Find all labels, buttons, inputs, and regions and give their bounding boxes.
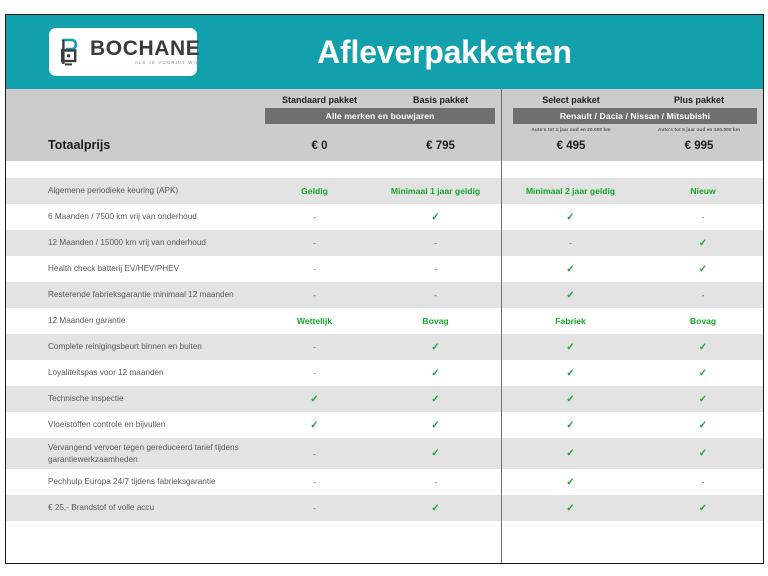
table-body: Algemene periodieke keuring (APK)GeldigM… <box>6 178 763 521</box>
cell-plus: ✓ <box>640 264 766 275</box>
cell-standaard: ✓ <box>259 394 370 405</box>
group-divider <box>501 89 502 563</box>
package-group-renault: Select pakket Plus pakket Renault / Daci… <box>501 89 763 161</box>
table-footer-space <box>6 521 763 563</box>
header-banner: BOCHANE ALS JE VOORUIT WIL Afleverpakket… <box>6 15 763 89</box>
cell-basis: ✓ <box>370 394 501 405</box>
header-body-spacer <box>6 161 763 178</box>
row-label: 6 Maanden / 7500 km vrij van onderhoud <box>6 211 259 222</box>
dash-marker: - <box>313 449 316 459</box>
row-label: Vervangend vervoer tegen gereduceerd tar… <box>6 442 259 464</box>
price-basis: € 795 <box>380 140 501 152</box>
cell-standaard: - <box>259 212 370 222</box>
cell-select: ✓ <box>501 448 640 459</box>
dash-marker: - <box>434 238 437 248</box>
column-header-standaard: Standaard pakket <box>259 95 380 105</box>
group-bar-renault: Renault / Dacia / Nissan / Mitsubishi <box>513 108 757 124</box>
cell-basis: - <box>370 477 501 487</box>
column-sub-select: Auto's tot 1 jaar oud en 20.000 km <box>507 127 635 132</box>
row-label: Resterende fabrieksgarantie minimaal 12 … <box>6 289 259 300</box>
cell-standaard: Wettelijk <box>259 316 370 326</box>
check-icon: ✓ <box>310 394 318 405</box>
cell-basis: ✓ <box>370 420 501 431</box>
check-icon: ✓ <box>566 264 574 275</box>
check-icon: ✓ <box>310 420 318 431</box>
cell-standaard: - <box>259 477 370 487</box>
cell-standaard: ✓ <box>259 420 370 431</box>
cell-text: Geldig <box>301 186 328 196</box>
cell-select: ✓ <box>501 394 640 405</box>
cell-plus: ✓ <box>640 503 766 514</box>
dash-marker: - <box>434 290 437 300</box>
cell-plus: - <box>640 477 766 487</box>
cell-basis: ✓ <box>370 448 501 459</box>
cell-standaard: - <box>259 264 370 274</box>
package-group-all-brands: Standaard pakket Basis pakket Alle merke… <box>259 89 501 161</box>
row-label: Health check batterij EV/HEV/PHEV <box>6 263 259 274</box>
cell-select: ✓ <box>501 212 640 223</box>
bochane-b-mark-icon <box>59 37 85 67</box>
cell-standaard: - <box>259 290 370 300</box>
column-header-plus: Plus pakket <box>635 95 763 105</box>
cell-select: ✓ <box>501 368 640 379</box>
table-row: 12 Maanden / 15000 km vrij van onderhoud… <box>6 230 763 256</box>
dash-marker: - <box>313 212 316 222</box>
check-icon: ✓ <box>699 342 707 353</box>
row-label: Complete reinigingsbeurt binnen en buite… <box>6 341 259 352</box>
brand-name: BOCHANE <box>90 38 200 59</box>
dash-marker: - <box>702 477 705 487</box>
cell-select: Fabriek <box>501 316 640 326</box>
dash-marker: - <box>434 477 437 487</box>
check-icon: ✓ <box>566 342 574 353</box>
table-row: Vloeistoffen controle en bijvullen✓✓✓✓ <box>6 412 763 438</box>
cell-text: Bovag <box>690 316 716 326</box>
cell-text: Wettelijk <box>297 316 332 326</box>
brand-logo: BOCHANE ALS JE VOORUIT WIL <box>49 28 197 76</box>
check-icon: ✓ <box>431 394 439 405</box>
cell-plus: - <box>640 290 766 300</box>
cell-text: Minimaal 2 jaar geldig <box>526 186 615 196</box>
check-icon: ✓ <box>699 448 707 459</box>
cell-plus: ✓ <box>640 238 766 249</box>
total-price-label: Totaalprijs <box>48 138 110 152</box>
dash-marker: - <box>313 264 316 274</box>
dash-marker: - <box>313 503 316 513</box>
cell-text: Minimaal 1 jaar geldig <box>391 186 480 196</box>
cell-plus: ✓ <box>640 368 766 379</box>
column-header-select: Select pakket <box>507 95 635 105</box>
check-icon: ✓ <box>566 290 574 301</box>
check-icon: ✓ <box>566 448 574 459</box>
dash-marker: - <box>702 212 705 222</box>
cell-select: ✓ <box>501 290 640 301</box>
cell-plus: ✓ <box>640 420 766 431</box>
brand-logo-text: BOCHANE ALS JE VOORUIT WIL <box>90 38 200 65</box>
table-row: Algemene periodieke keuring (APK)GeldigM… <box>6 178 763 204</box>
check-icon: ✓ <box>699 264 707 275</box>
cell-basis: - <box>370 238 501 248</box>
price-standaard: € 0 <box>259 140 380 152</box>
dash-marker: - <box>313 290 316 300</box>
check-icon: ✓ <box>431 420 439 431</box>
check-icon: ✓ <box>699 238 707 249</box>
table-row: 6 Maanden / 7500 km vrij van onderhoud-✓… <box>6 204 763 230</box>
cell-standaard: Geldig <box>259 186 370 196</box>
cell-basis: - <box>370 290 501 300</box>
cell-select: ✓ <box>501 477 640 488</box>
price-select: € 495 <box>507 140 635 152</box>
column-header-basis: Basis pakket <box>380 95 501 105</box>
table-row: Pechhulp Europa 24/7 tijdens fabrieksgar… <box>6 469 763 495</box>
check-icon: ✓ <box>431 503 439 514</box>
check-icon: ✓ <box>431 448 439 459</box>
cell-plus: ✓ <box>640 448 766 459</box>
table-header-block: Totaalprijs Standaard pakket Basis pakke… <box>6 89 763 161</box>
row-label: 12 Maanden / 15000 km vrij van onderhoud <box>6 237 259 248</box>
brand-tagline: ALS JE VOORUIT WIL <box>135 61 200 65</box>
check-icon: ✓ <box>699 420 707 431</box>
cell-select: ✓ <box>501 264 640 275</box>
cell-basis: - <box>370 264 501 274</box>
table-row: € 25,- Brandstof of volle accu-✓✓✓ <box>6 495 763 521</box>
cell-plus: Nieuw <box>640 186 766 196</box>
check-icon: ✓ <box>566 368 574 379</box>
cell-select: Minimaal 2 jaar geldig <box>501 186 640 196</box>
table-row: Health check batterij EV/HEV/PHEV--✓✓ <box>6 256 763 282</box>
check-icon: ✓ <box>699 368 707 379</box>
table-row: 12 Maanden garantieWettelijkBovagFabriek… <box>6 308 763 334</box>
dash-marker: - <box>313 342 316 352</box>
dash-marker: - <box>569 238 572 248</box>
cell-standaard: - <box>259 368 370 378</box>
cell-plus: Bovag <box>640 316 766 326</box>
cell-basis: Minimaal 1 jaar geldig <box>370 186 501 196</box>
cell-basis: ✓ <box>370 342 501 353</box>
check-icon: ✓ <box>431 212 439 223</box>
check-icon: ✓ <box>431 342 439 353</box>
check-icon: ✓ <box>431 368 439 379</box>
cell-standaard: - <box>259 342 370 352</box>
dash-marker: - <box>434 264 437 274</box>
cell-plus: ✓ <box>640 394 766 405</box>
total-price-label-cell: Totaalprijs <box>6 89 259 161</box>
check-icon: ✓ <box>566 503 574 514</box>
row-label: Pechhulp Europa 24/7 tijdens fabrieksgar… <box>6 476 259 487</box>
check-icon: ✓ <box>566 477 574 488</box>
check-icon: ✓ <box>566 420 574 431</box>
row-label: 12 Maanden garantie <box>6 315 259 326</box>
cell-standaard: - <box>259 449 370 459</box>
row-label: Algemene periodieke keuring (APK) <box>6 185 259 196</box>
column-sub-plus: Auto's tot 5 jaar oud en 100.000 km <box>635 127 763 132</box>
row-label: Technische inspectie <box>6 393 259 404</box>
cell-select: - <box>501 238 640 248</box>
cell-basis: ✓ <box>370 368 501 379</box>
page-root: BOCHANE ALS JE VOORUIT WIL Afleverpakket… <box>0 0 768 576</box>
cell-select: ✓ <box>501 342 640 353</box>
cell-select: ✓ <box>501 503 640 514</box>
check-icon: ✓ <box>699 394 707 405</box>
price-plus: € 995 <box>635 140 763 152</box>
cell-select: ✓ <box>501 420 640 431</box>
check-icon: ✓ <box>566 394 574 405</box>
cell-text: Nieuw <box>690 186 715 196</box>
cell-text: Bovag <box>422 316 448 326</box>
dash-marker: - <box>702 290 705 300</box>
check-icon: ✓ <box>566 212 574 223</box>
row-label: € 25,- Brandstof of volle accu <box>6 502 259 513</box>
cell-basis: ✓ <box>370 503 501 514</box>
packages-table: Totaalprijs Standaard pakket Basis pakke… <box>6 89 763 563</box>
table-row: Technische inspectie✓✓✓✓ <box>6 386 763 412</box>
cell-plus: ✓ <box>640 342 766 353</box>
table-row: Loyaliteitspas voor 12 maanden-✓✓✓ <box>6 360 763 386</box>
table-row: Resterende fabrieksgarantie minimaal 12 … <box>6 282 763 308</box>
cell-plus: - <box>640 212 766 222</box>
row-label: Vloeistoffen controle en bijvullen <box>6 419 259 430</box>
comparison-sheet: BOCHANE ALS JE VOORUIT WIL Afleverpakket… <box>5 14 764 564</box>
cell-standaard: - <box>259 238 370 248</box>
cell-basis: Bovag <box>370 316 501 326</box>
cell-basis: ✓ <box>370 212 501 223</box>
row-label: Loyaliteitspas voor 12 maanden <box>6 367 259 378</box>
table-row: Vervangend vervoer tegen gereduceerd tar… <box>6 438 763 469</box>
check-icon: ✓ <box>699 503 707 514</box>
cell-text: Fabriek <box>555 316 586 326</box>
dash-marker: - <box>313 368 316 378</box>
dash-marker: - <box>313 238 316 248</box>
table-row: Complete reinigingsbeurt binnen en buite… <box>6 334 763 360</box>
dash-marker: - <box>313 477 316 487</box>
group-bar-all-brands: Alle merken en bouwjaren <box>265 108 495 124</box>
cell-standaard: - <box>259 503 370 513</box>
